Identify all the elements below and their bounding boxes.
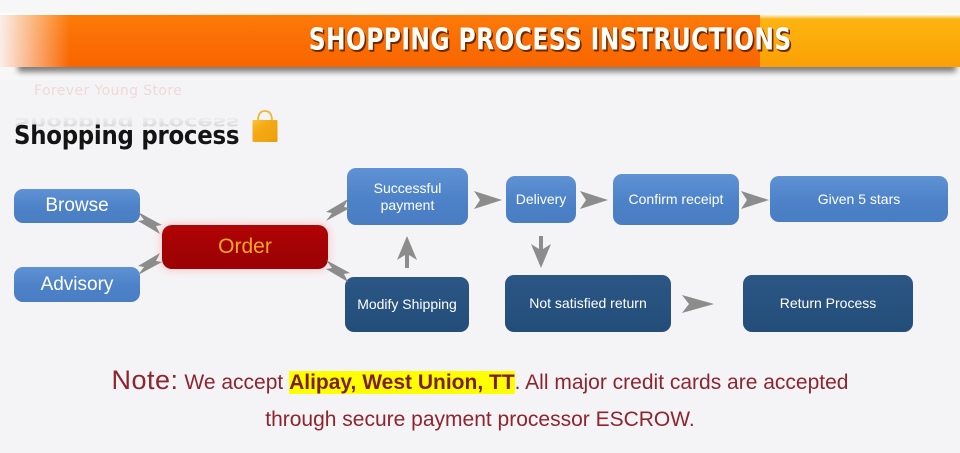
flow-node-successful-payment[interactable]: Successful payment (347, 168, 468, 225)
flow-node-label: Confirm receipt (629, 191, 724, 207)
flow-node-browse[interactable]: Browse (14, 189, 140, 223)
flow-node-label: Modify Shipping (357, 296, 457, 312)
flow-node-label: Advisory (41, 274, 114, 296)
flow-node-given-5-stars[interactable]: Given 5 stars (770, 176, 948, 222)
note-highlight: Alipay, West Union, TT (289, 371, 515, 394)
note-part2: . All major credit cards are accepted (515, 371, 849, 394)
flow-node-not-satisfied-return[interactable]: Not satisfied return (505, 275, 671, 332)
flow-node-return-process[interactable]: Return Process (743, 275, 913, 332)
shopping-process-infographic: SHOPPING PROCESS INSTRUCTIONS Forever Yo… (0, 0, 960, 453)
note-line2: through secure payment processor ESCROW. (0, 404, 960, 437)
flow-arrow-order-to-successful-payment (324, 195, 358, 230)
flow-arrow-successful-payment-to-delivery (472, 188, 506, 217)
flow-arrow-delivery-to-not-satisfied-return (530, 232, 552, 275)
note-label: Note: (112, 365, 179, 395)
flow-node-label: Successful payment (347, 180, 468, 212)
flow-node-delivery[interactable]: Delivery (506, 176, 576, 223)
flow-arrow-modify-shipping-to-successful-payment (396, 234, 418, 277)
flow-arrow-delivery-to-confirm-receipt (578, 188, 612, 217)
flow-node-modify-shipping[interactable]: Modify Shipping (345, 277, 469, 332)
flow-node-order[interactable]: Order (162, 225, 328, 269)
flow-node-confirm-receipt[interactable]: Confirm receipt (613, 174, 739, 225)
note-section: Note: We accept Alipay, West Union, TT. … (0, 360, 960, 436)
flow-arrow-advisory-to-order (136, 249, 170, 284)
flow-arrow-order-to-modify-shipping (324, 256, 358, 291)
flow-arrow-browse-to-order (136, 208, 170, 243)
flow-node-label: Delivery (516, 191, 567, 207)
flow-node-label: Order (218, 235, 272, 259)
flow-node-label: Not satisfied return (529, 295, 647, 311)
flow-arrow-not-satisfied-return-to-return-process (680, 292, 720, 321)
flow-node-label: Given 5 stars (818, 191, 900, 207)
note-part1: We accept (184, 371, 289, 394)
flow-node-advisory[interactable]: Advisory (14, 267, 140, 302)
flow-node-label: Browse (45, 195, 108, 217)
flow-node-label: Return Process (780, 295, 876, 311)
flow-arrow-confirm-receipt-to-given-5-stars (739, 188, 773, 217)
